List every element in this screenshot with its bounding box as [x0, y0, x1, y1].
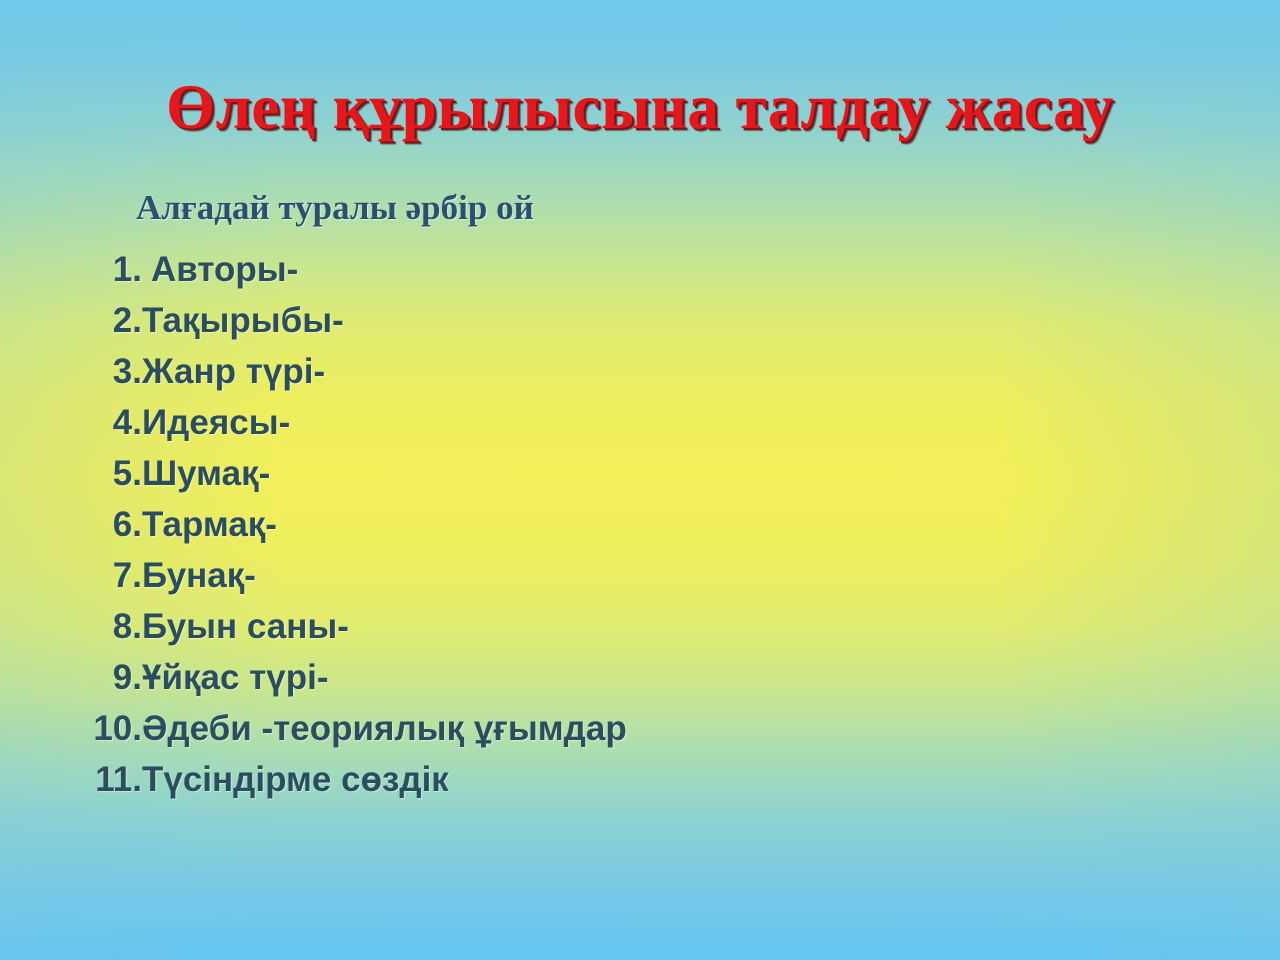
- list-item-label: Бунақ-: [142, 550, 256, 601]
- list-item-number: 1.: [0, 244, 142, 295]
- list-item: 10.Әдеби -теориялық ұғымдар: [0, 703, 1280, 754]
- list-item: 1.Авторы-: [0, 244, 1280, 295]
- list-item-number: 7.: [0, 550, 142, 601]
- list-item: 4.Идеясы-: [0, 397, 1280, 448]
- list-item: 7.Бунақ-: [0, 550, 1280, 601]
- list-item-number: 4.: [0, 397, 142, 448]
- slide-content: Өлең құрылысына талдау жасау Алғадай тур…: [0, 0, 1280, 960]
- list-item-label: Идеясы-: [142, 397, 290, 448]
- list-item-number: 3.: [0, 346, 142, 397]
- list-item-number: 6.: [0, 499, 142, 550]
- list-item: 3.Жанр түрі-: [0, 346, 1280, 397]
- list-item-number: 10.: [0, 703, 142, 754]
- list-item-label: Тақырыбы-: [142, 295, 344, 346]
- list-item-number: 11.: [0, 754, 142, 805]
- list-item-label: Жанр түрі-: [142, 346, 325, 397]
- list-item-label: Түсіндірме сөздік: [142, 754, 449, 805]
- slide-title: Өлең құрылысына талдау жасау: [0, 72, 1280, 142]
- slide-canvas: Өлең құрылысына талдау жасау Алғадай тур…: [0, 0, 1280, 960]
- list-item-label: Шумақ-: [142, 448, 270, 499]
- list-item: 9.Ұйқас түрі-: [0, 652, 1280, 703]
- list-item-number: 8.: [0, 601, 142, 652]
- list-item-number: 5.: [0, 448, 142, 499]
- slide-subtitle: Алғадай туралы әрбір ой: [136, 187, 534, 229]
- list-item: 8.Буын саны-: [0, 601, 1280, 652]
- list-item-label: Ұйқас түрі-: [142, 652, 329, 703]
- list-item: 11.Түсіндірме сөздік: [0, 754, 1280, 805]
- list-item-label: Тармақ-: [142, 499, 277, 550]
- list-item-number: 2.: [0, 295, 142, 346]
- analysis-item-list: 1.Авторы-2.Тақырыбы-3.Жанр түрі-4.Идеясы…: [0, 244, 1280, 805]
- list-item-label: Әдеби -теориялық ұғымдар: [142, 703, 627, 754]
- list-item: 5.Шумақ-: [0, 448, 1280, 499]
- list-item-number: 9.: [0, 652, 142, 703]
- list-item: 2.Тақырыбы-: [0, 295, 1280, 346]
- list-item-label: Авторы-: [142, 244, 298, 295]
- list-item: 6.Тармақ-: [0, 499, 1280, 550]
- list-item-label: Буын саны-: [142, 601, 349, 652]
